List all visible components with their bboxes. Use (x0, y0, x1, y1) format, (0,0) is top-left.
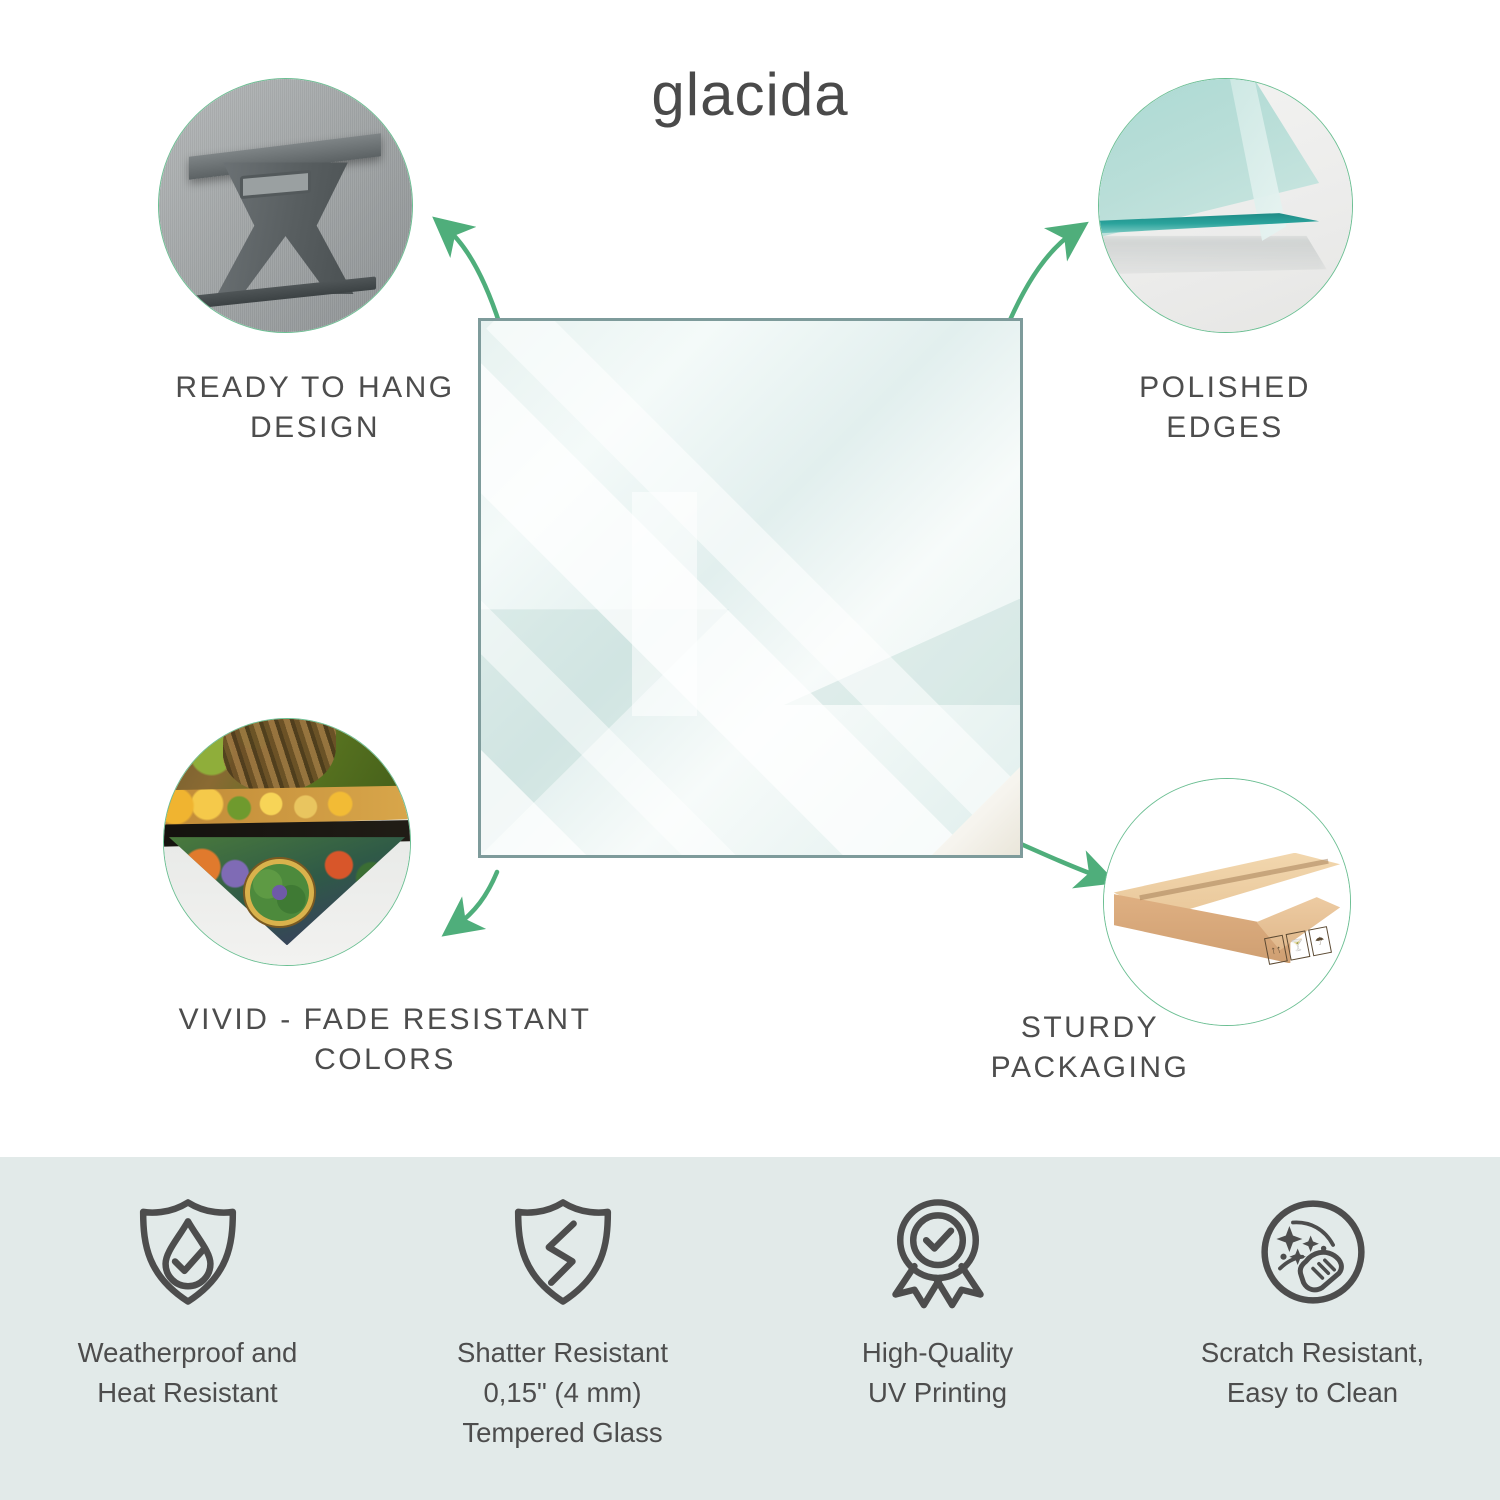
stained-glass-artwork-photo (164, 719, 410, 965)
feature-label-sturdy-packaging: STURDYPACKAGING (880, 1008, 1300, 1087)
sparkle-hand-wipe-circle-icon (1253, 1193, 1373, 1311)
benefit-text-scratch-resistant: Scratch Resistant,Easy to Clean (1201, 1333, 1424, 1413)
product-glass-panel (478, 318, 1023, 858)
arrow-to-ready-to-hang (446, 228, 500, 325)
feature-label-polished-edges: POLISHEDEDGES (1000, 368, 1450, 447)
benefit-uv-printing: High-QualityUV Printing (750, 1157, 1125, 1500)
benefits-band: Weatherproof andHeat Resistant Shatter R… (0, 1157, 1500, 1500)
feature-image-polished-edges (1098, 78, 1353, 333)
benefit-text-uv-printing: High-QualityUV Printing (862, 1333, 1013, 1413)
arrow-to-vivid-colors (456, 872, 497, 926)
benefit-scratch-resistant: Scratch Resistant,Easy to Clean (1125, 1157, 1500, 1500)
hanging-bracket-photo (159, 79, 412, 332)
shield-crack-icon (503, 1193, 623, 1311)
feature-image-vivid-colors (163, 718, 411, 966)
benefit-text-weatherproof: Weatherproof andHeat Resistant (78, 1333, 298, 1413)
benefit-text-shatter-resistant: Shatter Resistant0,15" (4 mm)Tempered Gl… (457, 1333, 668, 1453)
this-side-up-icon: ↑↑ (1264, 934, 1288, 964)
benefit-shatter-resistant: Shatter Resistant0,15" (4 mm)Tempered Gl… (375, 1157, 750, 1500)
arrow-to-sturdy-packaging (1012, 840, 1100, 877)
feature-image-sturdy-packaging: ↑↑ 🍸 ☂ (1103, 778, 1351, 1026)
feature-image-ready-to-hang (158, 78, 413, 333)
polished-glass-edge-photo (1099, 79, 1352, 332)
award-ribbon-check-icon (878, 1193, 998, 1311)
benefit-weatherproof: Weatherproof andHeat Resistant (0, 1157, 375, 1500)
cardboard-shipping-box-photo: ↑↑ 🍸 ☂ (1104, 779, 1350, 1025)
feature-label-vivid-colors: VIVID - FADE RESISTANTCOLORS (40, 1000, 730, 1079)
arrow-to-polished-edges (1010, 232, 1074, 320)
fragile-glass-icon: 🍸 (1286, 930, 1310, 960)
shield-water-drop-check-icon (128, 1193, 248, 1311)
